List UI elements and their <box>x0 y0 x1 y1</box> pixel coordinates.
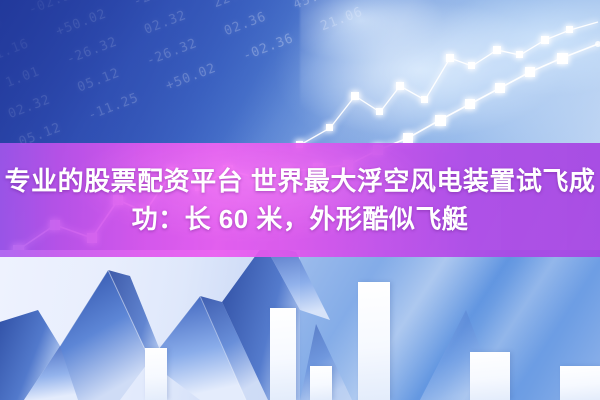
bar-item <box>358 282 390 400</box>
bar-item <box>270 308 296 400</box>
headline-line-1: 专业的股票配资平台 世界最大浮空风电装置试飞成 <box>5 162 596 200</box>
upper-line-series <box>296 22 598 148</box>
banner-image: -11.25+50.02-02.36-26.32+45.0221.06 -02.… <box>0 0 600 400</box>
headline-line-2: 功：长 60 米，外形酷似飞艇 <box>132 200 469 238</box>
bar-item <box>470 352 510 400</box>
bar-item <box>310 366 332 400</box>
headline-text: 专业的股票配资平台 世界最大浮空风电装置试飞成 功：长 60 米，外形酷似飞艇 <box>0 143 600 257</box>
bar-item <box>560 366 600 400</box>
bar-chart <box>0 250 600 400</box>
bar-item <box>145 348 167 400</box>
